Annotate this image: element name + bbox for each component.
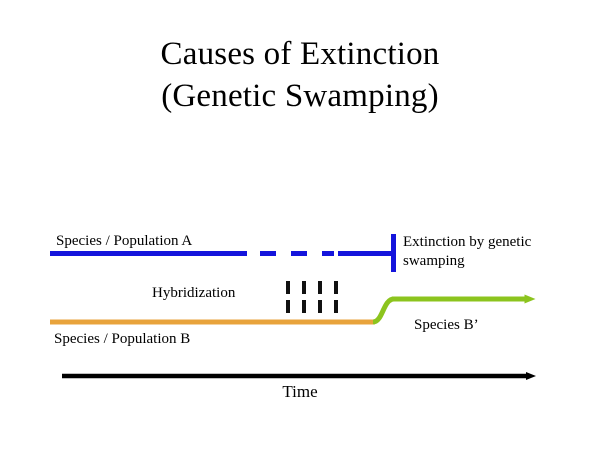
time-axis-label: Time [0, 381, 600, 403]
lineage-a-label: Species / Population A [56, 232, 192, 251]
extinction-label: Extinction by genetic swamping [403, 233, 583, 271]
hybridization-marks [288, 281, 336, 313]
hybridization-label: Hybridization [152, 284, 235, 303]
extinction-label-line-2: swamping [403, 252, 583, 271]
slide-canvas: Causes of Extinction (Genetic Swamping) [0, 0, 600, 450]
extinction-label-line-1: Extinction by genetic [403, 233, 583, 252]
lineage-bprime-label: Species B’ [414, 316, 479, 335]
lineage-b-label: Species / Population B [54, 330, 190, 349]
lineage-b-to-bprime-curve [373, 299, 394, 322]
